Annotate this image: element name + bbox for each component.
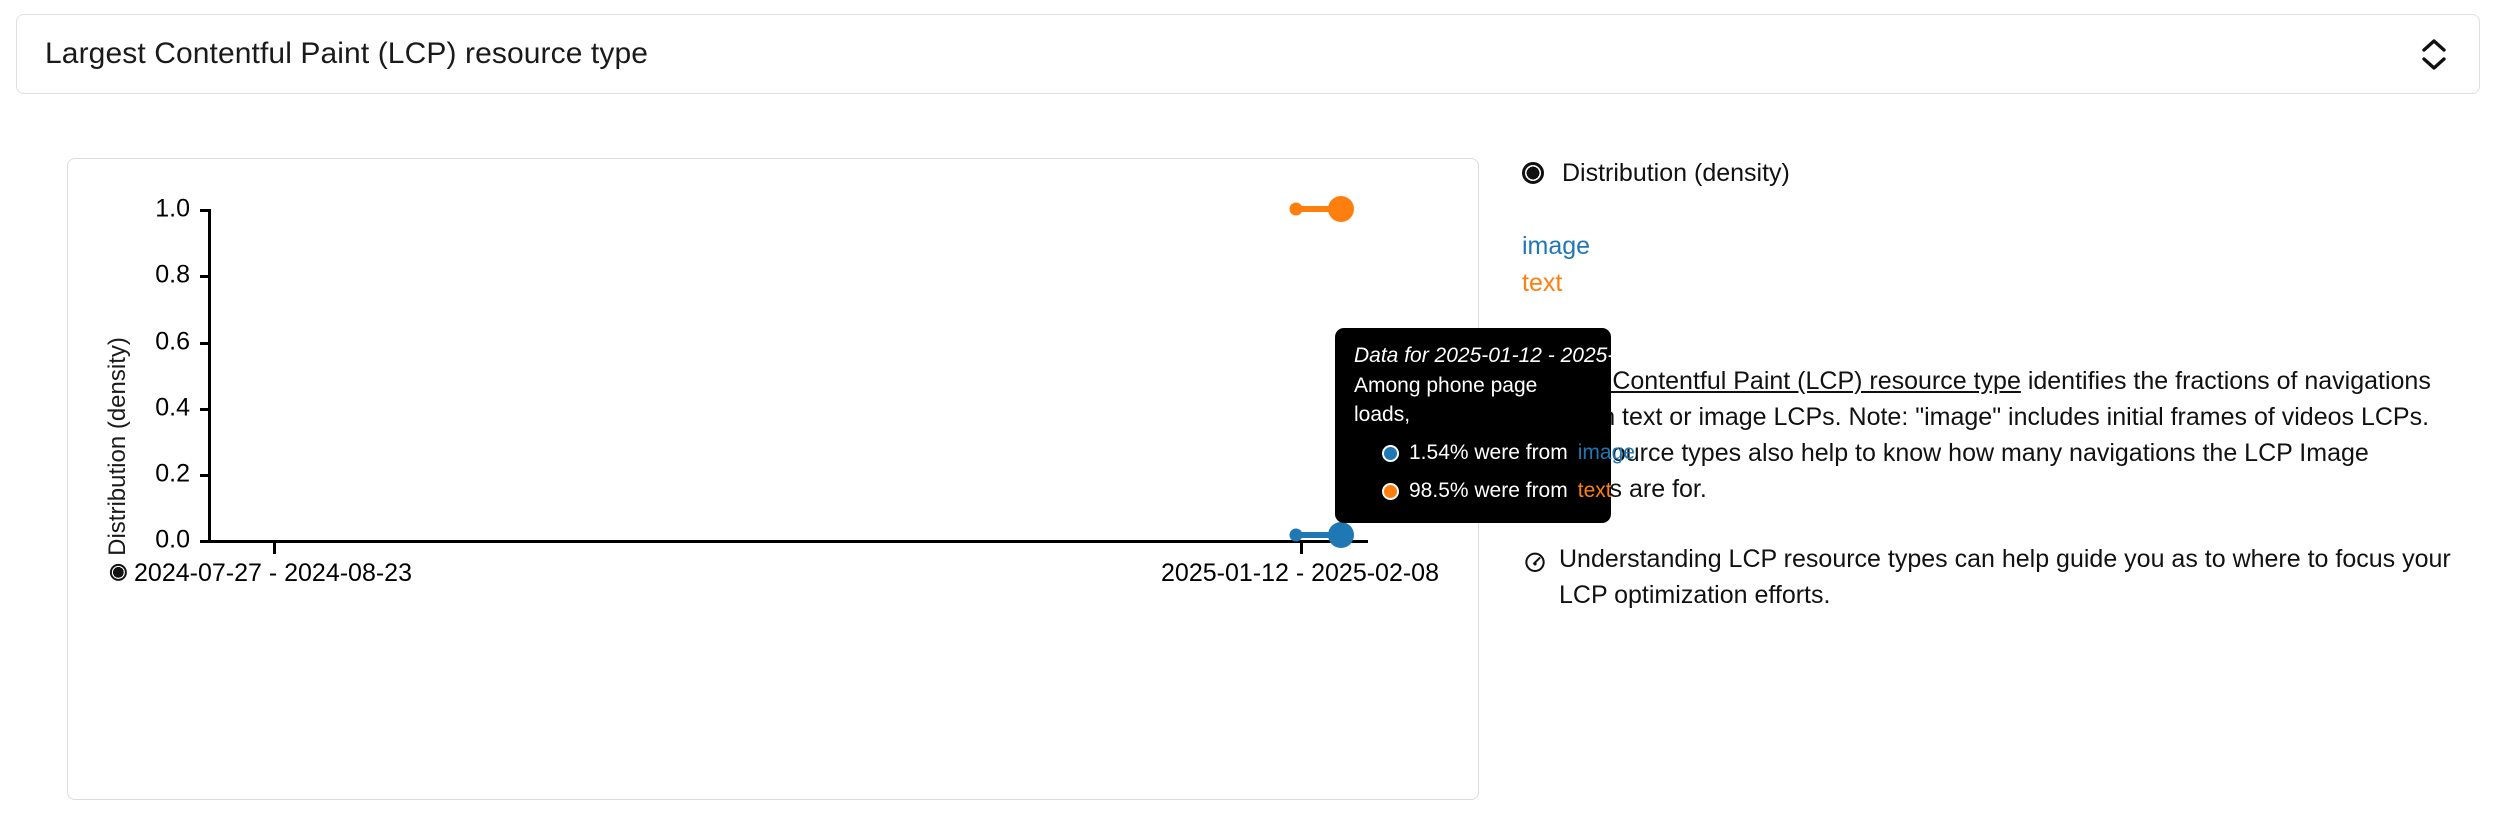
y-tick-mark [200, 342, 210, 345]
y-tick-mark [200, 540, 210, 543]
data-point-image-highlighted[interactable] [1328, 522, 1354, 548]
chart-legend: image text [1522, 228, 2462, 301]
speedometer-icon [1522, 548, 1548, 574]
y-tick-label: 0.4 [98, 394, 190, 423]
y-tick-mark [200, 474, 210, 477]
legend-item-image[interactable]: image [1522, 228, 2462, 265]
y-tick-mark [200, 209, 210, 212]
metric-option-distribution-density[interactable]: Distribution (density) [1522, 158, 2462, 188]
tooltip-subtitle: Among phone page loads, [1354, 372, 1592, 430]
y-tick-label: 0.0 [98, 526, 190, 555]
image-series-marker-icon [1382, 445, 1399, 462]
x-tick-label: 2025-01-12 - 2025-02-08 [1161, 559, 1439, 588]
y-tick-label: 0.6 [98, 328, 190, 357]
metric-note: Understanding LCP resource types can hel… [1522, 541, 2454, 613]
tooltip-row-series: image [1578, 439, 1635, 468]
content-area: Distribution (density) 1.0 0.8 0.6 0.4 0… [0, 110, 2512, 820]
data-point-text-highlighted[interactable] [1328, 196, 1354, 222]
metric-option-label: Distribution (density) [1562, 159, 1790, 188]
right-panel: Distribution (density) image text Larges… [1522, 158, 2462, 613]
tooltip-title: Data for 2025-01-12 - 2025-02-08 [1354, 342, 1592, 371]
panel-header[interactable]: Largest Contentful Paint (LCP) resource … [16, 14, 2480, 94]
data-point-text[interactable] [1290, 203, 1303, 216]
x-axis-line [208, 540, 1368, 543]
x-tick-mark [1300, 542, 1303, 554]
tooltip-row-value: 1.54% were from [1409, 439, 1568, 468]
tooltip-row-text: 98.5% were from text [1354, 477, 1592, 506]
y-tick-mark [200, 408, 210, 411]
data-point-image[interactable] [1290, 529, 1303, 542]
chevron-up-down-icon[interactable] [2417, 35, 2451, 74]
page-title: Largest Contentful Paint (LCP) resource … [45, 37, 648, 71]
chart-tooltip: Data for 2025-01-12 - 2025-02-08 Among p… [1335, 328, 1611, 523]
y-axis-line [208, 209, 211, 542]
y-tick-mark [200, 275, 210, 278]
tooltip-row-value: 98.5% were from [1409, 477, 1568, 506]
legend-item-text[interactable]: text [1522, 265, 2462, 302]
x-tick-label: 2024-07-27 - 2024-08-23 [134, 559, 412, 588]
text-series-marker-icon [1382, 483, 1399, 500]
chart-panel[interactable]: Distribution (density) 1.0 0.8 0.6 0.4 0… [67, 158, 1479, 800]
plot-area[interactable]: Distribution (density) 1.0 0.8 0.6 0.4 0… [68, 159, 1478, 799]
y-tick-label: 0.8 [98, 261, 190, 290]
metric-description: Largest Contentful Paint (LCP) resource … [1522, 363, 2454, 507]
metric-note-text: Understanding LCP resource types can hel… [1559, 541, 2454, 613]
y-tick-label: 1.0 [98, 195, 190, 224]
x-tick-mark [273, 542, 276, 554]
y-tick-labels: 1.0 0.8 0.6 0.4 0.2 0.0 [98, 159, 190, 799]
radio-selected-icon[interactable] [1522, 162, 1544, 184]
y-tick-label: 0.2 [98, 460, 190, 489]
tooltip-row-series: text [1578, 477, 1612, 506]
tooltip-row-image: 1.54% were from image [1354, 439, 1592, 468]
